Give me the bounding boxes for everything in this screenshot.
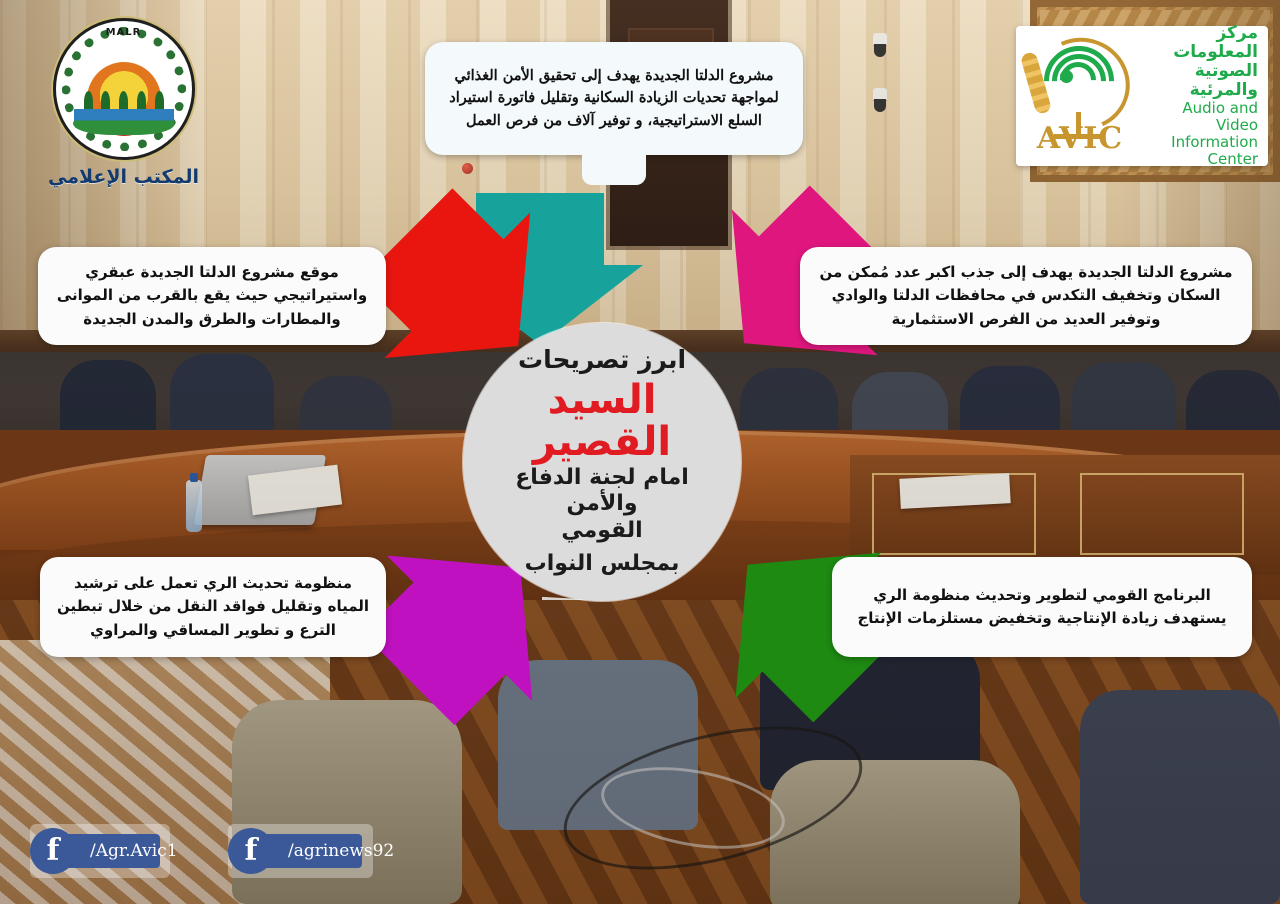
malr-seal-icon: MALR bbox=[53, 18, 195, 160]
avic-english-line-1: Audio and Video bbox=[1138, 100, 1258, 134]
malr-caption: المكتب الإعلامي bbox=[36, 166, 211, 188]
callout-bottom-left-text: منظومة تحديث الري تعمل على ترشيد المياه … bbox=[54, 572, 372, 642]
avic-english-line-2: Information Center bbox=[1138, 134, 1258, 168]
facebook-badge-agrinews[interactable]: f /agrinews92 bbox=[228, 824, 373, 878]
avic-arabic-line-1: مركز المعلومات bbox=[1138, 24, 1258, 62]
avic-arabic-line-2: الصوتية والمرئية bbox=[1138, 62, 1258, 100]
facebook-icon: f bbox=[30, 828, 76, 874]
hub-line-5: بمجلس النواب bbox=[525, 550, 680, 578]
hub-line-1: ابرز تصريحات bbox=[518, 346, 686, 375]
avic-logo: AVIC مركز المعلومات الصوتية والمرئية Aud… bbox=[1016, 26, 1268, 166]
callout-top: مشروع الدلتا الجديدة يهدف إلى تحقيق الأم… bbox=[425, 42, 803, 155]
infographic-canvas: ابرز تصريحات السيد القصير امام لجنة الدف… bbox=[0, 0, 1280, 904]
callout-top-right-text: مشروع الدلتا الجديدة يهدف إلى جذب اكبر ع… bbox=[814, 261, 1238, 331]
avic-wordmark: AVIC bbox=[1034, 124, 1126, 154]
hub-line-4: القومي bbox=[561, 518, 642, 544]
facebook-badge-avic[interactable]: f /Agr.Avic1 bbox=[30, 824, 170, 878]
callout-bottom-left: منظومة تحديث الري تعمل على ترشيد المياه … bbox=[40, 557, 386, 657]
callout-top-right: مشروع الدلتا الجديدة يهدف إلى جذب اكبر ع… bbox=[800, 247, 1252, 345]
callout-bottom-right-text: البرنامج القومي لتطوير وتحديث منظومة الر… bbox=[846, 584, 1238, 631]
callout-top-left-text: موقع مشروع الدلتا الجديدة عبقري واستيرات… bbox=[52, 261, 372, 331]
callout-top-stem bbox=[582, 151, 646, 185]
callout-bottom-right: البرنامج القومي لتطوير وتحديث منظومة الر… bbox=[832, 557, 1252, 657]
callout-top-text: مشروع الدلتا الجديدة يهدف إلى تحقيق الأم… bbox=[439, 65, 789, 132]
malr-ring-text: MALR bbox=[56, 28, 192, 38]
hub-line-3: امام لجنة الدفاع والأمن bbox=[481, 465, 723, 518]
facebook-icon: f bbox=[228, 828, 274, 874]
hub-speaker-name: السيد القصير bbox=[481, 379, 723, 463]
callout-top-left: موقع مشروع الدلتا الجديدة عبقري واستيرات… bbox=[38, 247, 386, 345]
center-hub: ابرز تصريحات السيد القصير امام لجنة الدف… bbox=[463, 323, 741, 601]
facebook-handle-avic: /Agr.Avic1 bbox=[90, 843, 178, 860]
facebook-handle-agrinews: /agrinews92 bbox=[288, 843, 394, 860]
avic-broadcast-icon: AVIC bbox=[1026, 36, 1130, 156]
malr-logo: MALR المكتب الإعلامي bbox=[36, 18, 211, 188]
